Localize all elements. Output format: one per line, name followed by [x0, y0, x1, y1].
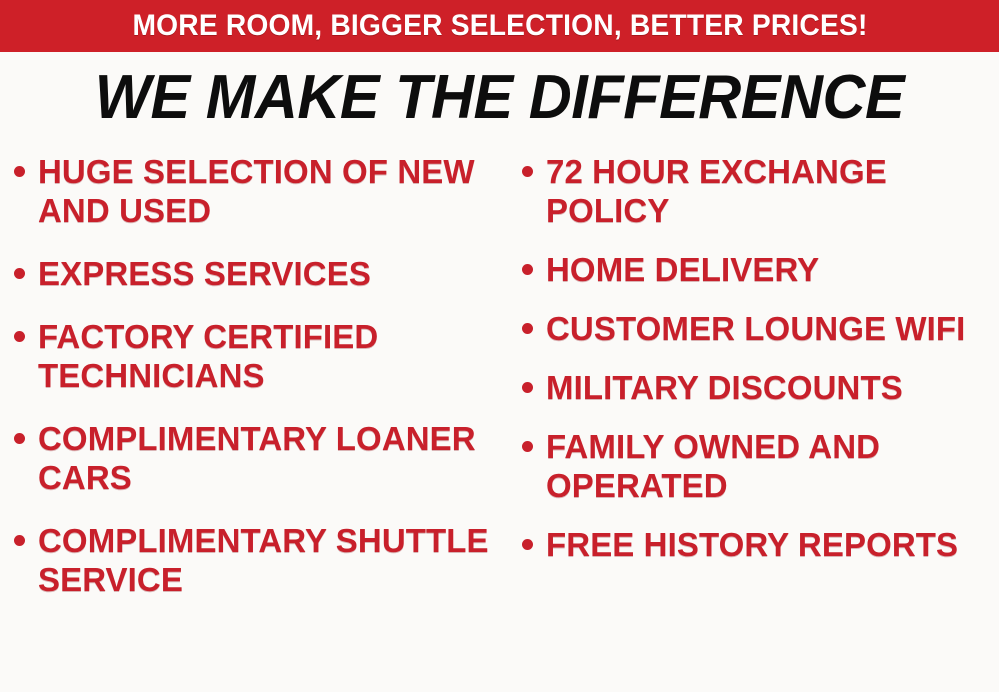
list-item: HOME DELIVERY [522, 250, 999, 289]
feature-label: FAMILY OWNED AND OPERATED [546, 427, 999, 505]
list-item: FREE HISTORY REPORTS [522, 525, 999, 564]
page-title: WE MAKE THE DIFFERENCE [20, 62, 979, 134]
list-item: FACTORY CERTIFIED TECHNICIANS [14, 317, 505, 395]
bullet-dot-icon [522, 539, 533, 550]
bullet-dot-icon [522, 323, 533, 334]
list-item: CUSTOMER LOUNGE WIFI [522, 309, 999, 348]
feature-label: HOME DELIVERY [546, 250, 819, 289]
bullet-dot-icon [522, 166, 533, 177]
feature-label: COMPLIMENTARY LOANER CARS [38, 419, 505, 497]
bullet-dot-icon [14, 535, 25, 546]
top-announcement-text: MORE ROOM, BIGGER SELECTION, BETTER PRIC… [132, 11, 867, 41]
feature-label: CUSTOMER LOUNGE WIFI [546, 309, 965, 348]
list-item: COMPLIMENTARY SHUTTLE SERVICE [14, 521, 505, 599]
bullet-dot-icon [14, 433, 25, 444]
features-column-left: HUGE SELECTION OF NEW AND USED EXPRESS S… [0, 152, 505, 623]
promotional-banner: MORE ROOM, BIGGER SELECTION, BETTER PRIC… [0, 0, 999, 692]
top-announcement-strip: MORE ROOM, BIGGER SELECTION, BETTER PRIC… [0, 0, 999, 52]
feature-label: HUGE SELECTION OF NEW AND USED [38, 152, 505, 230]
list-item: FAMILY OWNED AND OPERATED [522, 427, 999, 505]
list-item: MILITARY DISCOUNTS [522, 368, 999, 407]
bullet-dot-icon [14, 331, 25, 342]
feature-label: FACTORY CERTIFIED TECHNICIANS [38, 317, 505, 395]
feature-label: FREE HISTORY REPORTS [546, 525, 958, 564]
feature-label: MILITARY DISCOUNTS [546, 368, 903, 407]
bullet-dot-icon [522, 382, 533, 393]
features-column-right: 72 HOUR EXCHANGE POLICY HOME DELIVERY CU… [505, 152, 999, 584]
list-item: HUGE SELECTION OF NEW AND USED [14, 152, 505, 230]
list-item: COMPLIMENTARY LOANER CARS [14, 419, 505, 497]
bullet-dot-icon [14, 166, 25, 177]
bullet-dot-icon [14, 268, 25, 279]
bullet-dot-icon [522, 264, 533, 275]
feature-label: 72 HOUR EXCHANGE POLICY [546, 152, 999, 230]
feature-label: COMPLIMENTARY SHUTTLE SERVICE [38, 521, 505, 599]
bullet-dot-icon [522, 441, 533, 452]
features-columns: HUGE SELECTION OF NEW AND USED EXPRESS S… [0, 152, 999, 692]
feature-label: EXPRESS SERVICES [38, 254, 371, 293]
list-item: 72 HOUR EXCHANGE POLICY [522, 152, 999, 230]
list-item: EXPRESS SERVICES [14, 254, 505, 293]
